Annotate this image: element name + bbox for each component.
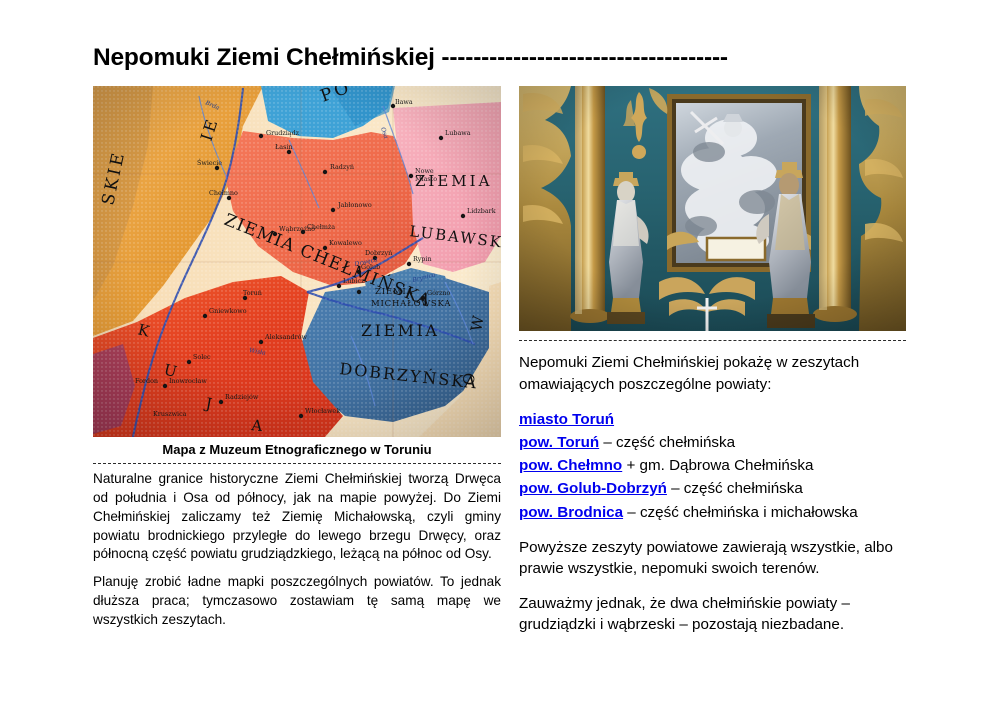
link-pow-torun[interactable]: pow. Toruń [519, 434, 599, 451]
right-divider [519, 340, 906, 341]
link-pow-chelmno[interactable]: pow. Chełmno [519, 457, 622, 474]
map-caption: Mapa z Muzeum Etnograficznego w Toruniu [93, 442, 501, 458]
left-paragraph-1: Naturalne granice historyczne Ziemi Cheł… [93, 470, 501, 564]
link-pow-golub-dobrzyn[interactable]: pow. Golub-Dobrzyń [519, 480, 667, 497]
altar-photo-graphic [519, 86, 906, 331]
map-image: SKIE IE PO ZIEMIA CHEŁMIŃSKA ZIEMIA LUBA… [93, 86, 501, 437]
list-item: pow. Brodnica – część chełmińska i micha… [519, 501, 906, 524]
list-item: pow. Chełmno + gm. Dąbrowa Chełmińska [519, 454, 906, 477]
left-divider [93, 463, 501, 464]
right-intro-paragraph: Nepomuki Ziemi Chełmińskiej pokażę w zes… [519, 352, 906, 395]
altar-photo [519, 86, 906, 331]
right-paragraph-1: Powyższe zeszyty powiatowe zawierają wsz… [519, 537, 906, 580]
list-item: miasto Toruń [519, 408, 906, 431]
left-column: SKIE IE PO ZIEMIA CHEŁMIŃSKA ZIEMIA LUBA… [93, 86, 501, 629]
document-page: Nepomuki Ziemi Chełmińskiej ------------… [0, 0, 992, 701]
map-graphic: SKIE IE PO ZIEMIA CHEŁMIŃSKA ZIEMIA LUBA… [93, 86, 501, 437]
powiat-link-list: miasto Toruń pow. Toruń – część chełmińs… [519, 408, 906, 523]
right-paragraph-2: Zauważmy jednak, że dwa chełmińskie powi… [519, 593, 906, 636]
link-suffix-4: – część chełmińska i michałowska [623, 504, 858, 521]
page-title: Nepomuki Ziemi Chełmińskiej ------------… [93, 45, 913, 72]
list-item: pow. Golub-Dobrzyń – część chełmińska [519, 477, 906, 500]
link-miasto-torun[interactable]: miasto Toruń [519, 411, 614, 428]
link-suffix-2: + gm. Dąbrowa Chełmińska [622, 457, 813, 474]
list-item: pow. Toruń – część chełmińska [519, 431, 906, 454]
left-paragraph-2: Planuję zrobić ładne mapki poszczególnyc… [93, 573, 501, 629]
right-column: Nepomuki Ziemi Chełmińskiej pokażę w zes… [519, 86, 906, 649]
link-suffix-1: – część chełmińska [599, 434, 735, 451]
link-suffix-3: – część chełmińska [667, 480, 803, 497]
link-pow-brodnica[interactable]: pow. Brodnica [519, 504, 623, 521]
